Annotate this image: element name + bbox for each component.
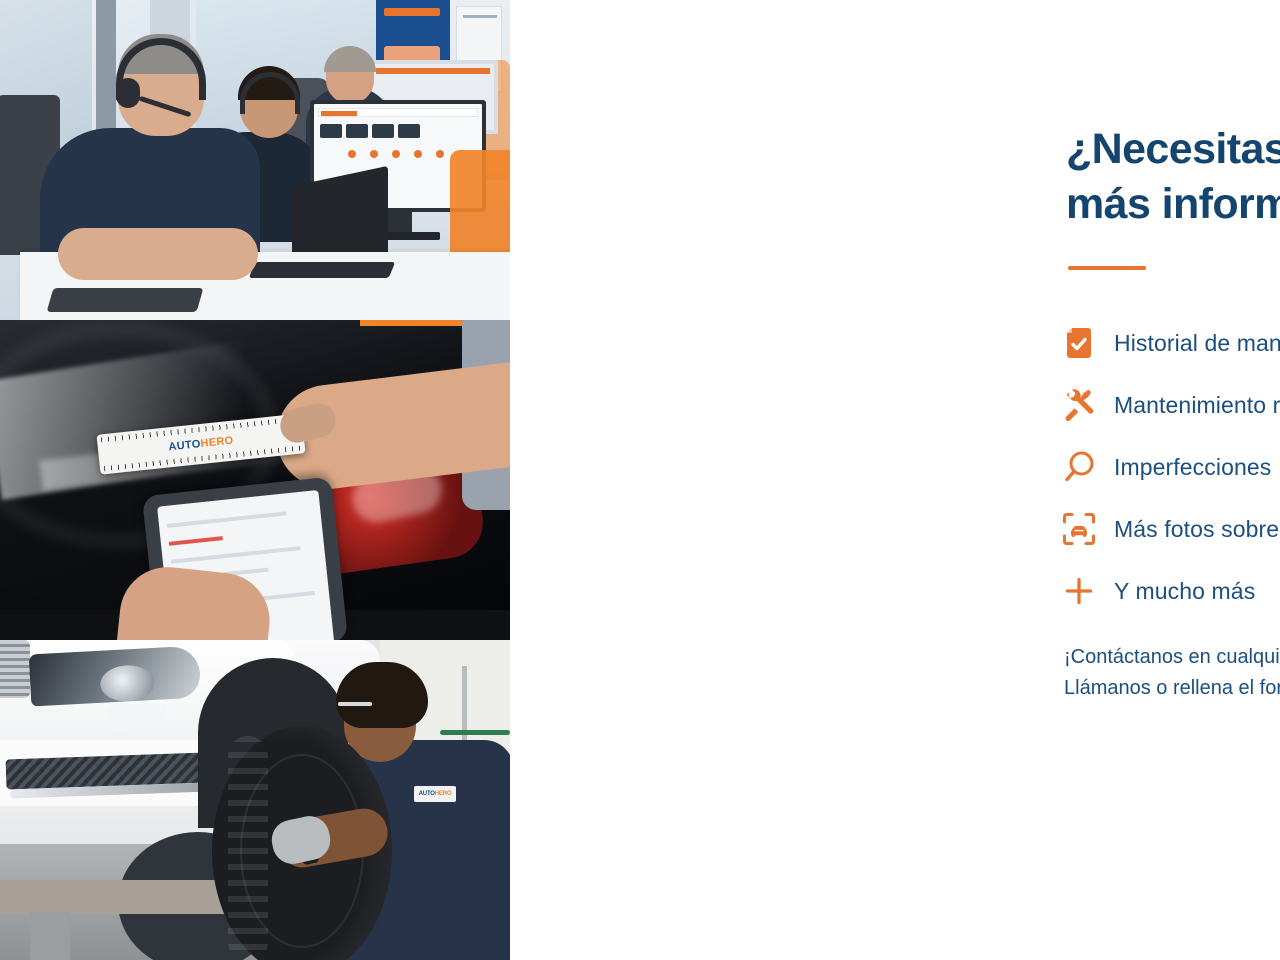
- feature-item-historial: Historial de mantenimientos: [1062, 312, 1280, 374]
- feature-label: Mantenimiento realizado: [1114, 392, 1280, 419]
- feature-item-mas: Y mucho más: [1062, 560, 1280, 622]
- autohero-info-panel: AUTOHERO: [0, 0, 1280, 960]
- lift-column: [30, 912, 70, 960]
- agent-1-arms: [58, 228, 258, 280]
- agent-1-headset-cup: [116, 78, 140, 108]
- laptop-keyboard: [249, 262, 395, 278]
- feature-list: Historial de mantenimientos Mantenimient…: [1062, 312, 1280, 622]
- car-inspection-ruler-photo: AUTOHERO: [0, 320, 510, 640]
- workshop-tire-photo: AUTOHERO: [0, 640, 510, 960]
- call-center-agents-photo: [0, 0, 510, 320]
- license-plate-area: [108, 703, 167, 731]
- page-title: ¿Necesitas más información?: [1066, 122, 1280, 232]
- mechanic-hair: [336, 662, 428, 728]
- autohero-uniform-logo: AUTOHERO: [414, 786, 456, 802]
- info-content: ¿Necesitas más información? Estamos enca…: [510, 0, 1280, 960]
- car-headlight: [29, 646, 201, 707]
- feature-label: Más fotos sobre el coche: [1114, 516, 1280, 543]
- ruler-brand-a: AUTO: [168, 438, 201, 453]
- plus-icon: [1062, 574, 1114, 608]
- subtext-line-1: ¡Contáctanos en cualquier momento para m…: [1064, 642, 1280, 673]
- wrench-screwdriver-icon: [1062, 388, 1114, 422]
- green-hose: [440, 730, 510, 735]
- feature-label: Y mucho más: [1114, 578, 1255, 605]
- ruler-brand-b: HERO: [200, 435, 234, 450]
- title-divider: [1068, 266, 1146, 270]
- car-scan-frame-icon: [1062, 512, 1114, 546]
- contact-subtext: ¡Contáctanos en cualquier momento para m…: [1064, 642, 1280, 704]
- feature-item-mantenimiento: Mantenimiento realizado: [1062, 374, 1280, 436]
- feature-item-fotos: Más fotos sobre el coche: [1062, 498, 1280, 560]
- headline-line-2: más información?: [1066, 177, 1280, 232]
- feature-label: Historial de mantenimientos: [1114, 330, 1280, 357]
- desk-tablet: [47, 288, 204, 312]
- safety-glasses: [338, 702, 372, 706]
- car-grille: [0, 640, 30, 698]
- tire-tread: [228, 736, 268, 960]
- checklist-document-icon: [1062, 326, 1114, 360]
- subtext-line-2: Llámanos o rellena el formulario de cont…: [1064, 673, 1280, 704]
- magnifier-icon: [1062, 450, 1114, 484]
- feature-item-imperfecciones: Imperfecciones: [1062, 436, 1280, 498]
- feature-label: Imperfecciones: [1114, 454, 1271, 481]
- headline-line-1: ¿Necesitas: [1066, 122, 1280, 177]
- photo-column: AUTOHERO: [0, 0, 510, 960]
